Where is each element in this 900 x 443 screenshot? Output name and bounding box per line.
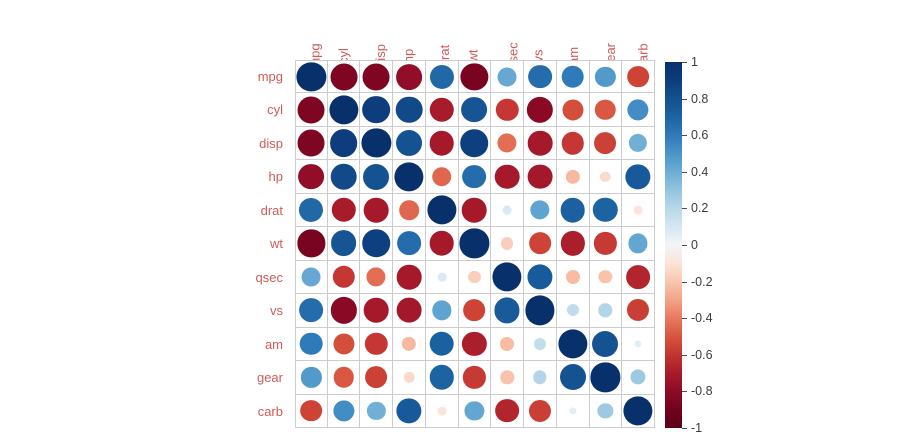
matrix-cell-gear-am[interactable]: [557, 361, 590, 394]
matrix-cell-carb-disp[interactable]: [360, 395, 393, 428]
correlation-dot: [298, 96, 325, 123]
correlation-dot: [631, 370, 646, 385]
matrix-cell-disp-gear[interactable]: [590, 127, 623, 160]
correlation-dot: [528, 164, 553, 189]
correlation-dot: [301, 367, 321, 387]
correlation-dot: [593, 198, 617, 222]
matrix-cell-hp-cyl[interactable]: [328, 160, 361, 193]
matrix-cell-hp-vs[interactable]: [524, 160, 557, 193]
matrix-cell-gear-qsec[interactable]: [491, 361, 524, 394]
matrix-cell-cyl-hp[interactable]: [393, 93, 426, 126]
correlation-dot: [558, 329, 587, 358]
correlation-dot: [396, 130, 422, 156]
matrix-cell-carb-mpg[interactable]: [295, 395, 328, 428]
correlation-dot: [625, 164, 650, 189]
matrix-cell-hp-hp[interactable]: [393, 160, 426, 193]
correlation-dot: [495, 399, 519, 423]
correlation-dot: [363, 230, 391, 258]
correlation-dot: [530, 200, 549, 219]
correlation-dot: [365, 366, 387, 388]
correlation-dot: [629, 234, 648, 253]
correlation-dot: [527, 97, 553, 123]
colorbar-tick: [682, 135, 687, 136]
correlation-dot: [600, 171, 611, 182]
correlation-dot: [527, 264, 552, 289]
matrix-cell-disp-carb[interactable]: [622, 127, 655, 160]
correlation-dot: [592, 331, 618, 357]
matrix-cell-gear-mpg[interactable]: [295, 361, 328, 394]
correlation-dot: [569, 407, 576, 414]
matrix-cell-am-vs[interactable]: [524, 328, 557, 361]
matrix-cell-am-disp[interactable]: [360, 328, 393, 361]
correlation-dot: [432, 167, 452, 187]
correlation-dot: [562, 99, 583, 120]
correlation-dot: [594, 232, 616, 254]
correlation-dot: [332, 266, 354, 288]
colorbar-tick-label: -0.2: [691, 275, 713, 289]
correlation-dot: [528, 65, 552, 89]
correlation-dot: [594, 132, 616, 154]
correlation-dot: [598, 403, 613, 418]
correlation-dot: [298, 230, 325, 257]
correlation-dot: [329, 95, 358, 124]
correlation-dot: [495, 298, 520, 323]
matrix-cell-wt-drat[interactable]: [426, 227, 459, 260]
matrix-cell-drat-carb[interactable]: [622, 194, 655, 227]
matrix-cell-mpg-gear[interactable]: [590, 60, 623, 93]
row-axis-labels: mpgcyldisphpdratwtqsecvsamgearcarb: [215, 60, 289, 428]
row-label-mpg: mpg: [258, 60, 283, 93]
colorbar-tick-label: -0.8: [691, 384, 713, 398]
correlation-dot: [566, 169, 580, 183]
matrix-cell-drat-wt[interactable]: [459, 194, 492, 227]
row-label-vs: vs: [270, 294, 283, 327]
matrix-cell-disp-wt[interactable]: [459, 127, 492, 160]
correlation-dot: [397, 232, 421, 256]
matrix-cell-cyl-mpg[interactable]: [295, 93, 328, 126]
matrix-cell-disp-am[interactable]: [557, 127, 590, 160]
correlation-dot: [429, 231, 454, 256]
correlation-dot: [427, 195, 456, 224]
correlation-dot: [397, 265, 422, 290]
matrix-cell-vs-am[interactable]: [557, 294, 590, 327]
matrix-cell-mpg-am[interactable]: [557, 60, 590, 93]
matrix-cell-am-cyl[interactable]: [328, 328, 361, 361]
colorbar-tick-label: 0.8: [691, 92, 708, 106]
matrix-cell-gear-hp[interactable]: [393, 361, 426, 394]
colorbar-tick-label: 0.6: [691, 128, 708, 142]
matrix-cell-am-gear[interactable]: [590, 328, 623, 361]
matrix-cell-gear-drat[interactable]: [426, 361, 459, 394]
matrix-cell-cyl-qsec[interactable]: [491, 93, 524, 126]
matrix-cell-cyl-wt[interactable]: [459, 93, 492, 126]
row-label-am: am: [265, 328, 283, 361]
correlation-dot: [399, 200, 419, 220]
matrix-cell-mpg-disp[interactable]: [360, 60, 393, 93]
matrix-cell-hp-drat[interactable]: [426, 160, 459, 193]
correlation-dot: [402, 337, 416, 351]
matrix-cell-drat-disp[interactable]: [360, 194, 393, 227]
correlation-dot: [363, 164, 389, 190]
correlation-dot: [331, 231, 357, 257]
correlation-dot: [437, 406, 446, 415]
correlation-dot: [599, 304, 612, 317]
colorbar-tick: [682, 282, 687, 283]
colorbar-tick: [682, 355, 687, 356]
matrix-cell-am-drat[interactable]: [426, 328, 459, 361]
correlation-dot: [496, 98, 518, 120]
matrix-cell-hp-wt[interactable]: [459, 160, 492, 193]
correlation-dot: [493, 262, 522, 291]
matrix-cell-wt-mpg[interactable]: [295, 227, 328, 260]
matrix-cell-qsec-mpg[interactable]: [295, 261, 328, 294]
matrix-cell-vs-cyl[interactable]: [328, 294, 361, 327]
matrix-cell-gear-carb[interactable]: [622, 361, 655, 394]
correlation-dot: [437, 273, 446, 282]
matrix-cell-cyl-cyl[interactable]: [328, 93, 361, 126]
matrix-cell-vs-qsec[interactable]: [491, 294, 524, 327]
matrix-cell-wt-hp[interactable]: [393, 227, 426, 260]
correlation-dot: [330, 163, 357, 190]
matrix-cell-drat-cyl[interactable]: [328, 194, 361, 227]
matrix-cell-wt-carb[interactable]: [622, 227, 655, 260]
matrix-cell-qsec-hp[interactable]: [393, 261, 426, 294]
matrix-cell-hp-am[interactable]: [557, 160, 590, 193]
row-label-cyl: cyl: [267, 93, 283, 126]
matrix-cell-drat-hp[interactable]: [393, 194, 426, 227]
matrix-cell-gear-disp[interactable]: [360, 361, 393, 394]
matrix-cell-gear-cyl[interactable]: [328, 361, 361, 394]
colorbar-tick-label: 0.4: [691, 165, 708, 179]
correlation-dot: [429, 332, 454, 357]
correlation-dot: [300, 333, 323, 356]
matrix-cell-carb-cyl[interactable]: [328, 395, 361, 428]
correlation-dot: [498, 134, 517, 153]
matrix-cell-qsec-qsec[interactable]: [491, 261, 524, 294]
correlation-dot: [462, 198, 487, 223]
correlation-dot: [560, 364, 586, 390]
matrix-cell-qsec-disp[interactable]: [360, 261, 393, 294]
row-label-qsec: qsec: [256, 261, 283, 294]
matrix-cell-am-wt[interactable]: [459, 328, 492, 361]
correlation-dot: [627, 299, 649, 321]
matrix-cell-cyl-drat[interactable]: [426, 93, 459, 126]
matrix-cell-carb-carb[interactable]: [622, 395, 655, 428]
matrix-cell-qsec-vs[interactable]: [524, 261, 557, 294]
matrix-cell-carb-am[interactable]: [557, 395, 590, 428]
correlation-dot: [595, 67, 615, 87]
correlation-dot: [301, 400, 323, 422]
correlation-dot: [298, 164, 324, 190]
matrix-cell-vs-vs[interactable]: [524, 294, 557, 327]
matrix-cell-cyl-carb[interactable]: [622, 93, 655, 126]
correlation-dot: [465, 401, 484, 420]
correlation-dot: [430, 65, 454, 89]
matrix-cell-vs-disp[interactable]: [360, 294, 393, 327]
matrix-cell-drat-am[interactable]: [557, 194, 590, 227]
matrix-cell-mpg-hp[interactable]: [393, 60, 426, 93]
matrix-cell-hp-disp[interactable]: [360, 160, 393, 193]
matrix-cell-am-mpg[interactable]: [295, 328, 328, 361]
matrix-cell-carb-vs[interactable]: [524, 395, 557, 428]
correlation-dot: [367, 402, 385, 420]
matrix-cell-hp-gear[interactable]: [590, 160, 623, 193]
correlation-dot: [463, 165, 487, 189]
matrix-cell-drat-mpg[interactable]: [295, 194, 328, 227]
matrix-cell-hp-carb[interactable]: [622, 160, 655, 193]
correlation-dot: [330, 297, 356, 323]
colorbar-tick-label: 0.2: [691, 201, 708, 215]
correlation-dot: [626, 265, 650, 289]
matrix-cell-disp-hp[interactable]: [393, 127, 426, 160]
correlation-dot: [430, 365, 454, 389]
correlation-dot: [396, 398, 421, 423]
matrix-cell-disp-vs[interactable]: [524, 127, 557, 160]
correlation-dot: [429, 131, 454, 156]
correlation-dot: [635, 340, 642, 347]
correlation-dot: [468, 271, 480, 283]
correlation-dot: [503, 206, 512, 215]
colorbar-tick: [682, 208, 687, 209]
correlation-dot: [599, 270, 612, 283]
matrix-cell-qsec-am[interactable]: [557, 261, 590, 294]
correlation-dot: [462, 97, 488, 123]
correlation-dot: [463, 366, 485, 388]
correlation-dot: [364, 298, 389, 323]
colorbar-tick: [682, 318, 687, 319]
matrix-cell-vs-hp[interactable]: [393, 294, 426, 327]
matrix-cell-carb-gear[interactable]: [590, 395, 623, 428]
matrix-cell-mpg-carb[interactable]: [622, 60, 655, 93]
colorbar-legend: 10.80.60.40.20-0.2-0.4-0.6-0.8-1: [665, 60, 785, 430]
matrix-cell-gear-gear[interactable]: [590, 361, 623, 394]
correlation-dot: [561, 132, 583, 154]
correlation-dot: [561, 231, 585, 255]
correlation-dot: [330, 129, 358, 157]
matrix-cell-vs-carb[interactable]: [622, 294, 655, 327]
matrix-cell-cyl-gear[interactable]: [590, 93, 623, 126]
correlation-dot: [396, 96, 423, 123]
correlation-dot: [533, 371, 546, 384]
matrix-cell-vs-mpg[interactable]: [295, 294, 328, 327]
correlation-dot: [362, 129, 391, 158]
colorbar-gradient: [665, 62, 682, 428]
matrix-cell-mpg-drat[interactable]: [426, 60, 459, 93]
matrix-cell-carb-wt[interactable]: [459, 395, 492, 428]
matrix-cell-qsec-drat[interactable]: [426, 261, 459, 294]
correlation-dot: [627, 66, 649, 88]
matrix-cell-disp-mpg[interactable]: [295, 127, 328, 160]
matrix-cell-disp-cyl[interactable]: [328, 127, 361, 160]
correlation-dot: [529, 233, 551, 255]
colorbar-tick: [682, 99, 687, 100]
correlation-dot: [298, 130, 325, 157]
matrix-cell-carb-drat[interactable]: [426, 395, 459, 428]
matrix-cell-wt-wt[interactable]: [459, 227, 492, 260]
matrix-cell-carb-qsec[interactable]: [491, 395, 524, 428]
matrix-cell-qsec-gear[interactable]: [590, 261, 623, 294]
correlation-dot: [624, 396, 653, 425]
correlation-dot: [394, 162, 423, 191]
correlation-dot: [430, 97, 454, 121]
matrix-cell-gear-vs[interactable]: [524, 361, 557, 394]
matrix-cell-am-hp[interactable]: [393, 328, 426, 361]
colorbar-tick-label: -0.6: [691, 348, 713, 362]
matrix-cell-qsec-wt[interactable]: [459, 261, 492, 294]
row-label-carb: carb: [258, 395, 283, 428]
correlation-dot: [500, 337, 514, 351]
correlation-dot: [525, 296, 554, 325]
correlation-dot: [404, 372, 415, 383]
matrix-cell-am-carb[interactable]: [622, 328, 655, 361]
correlation-dot: [629, 134, 647, 152]
correlation-dot: [364, 198, 389, 223]
matrix-cell-am-qsec[interactable]: [491, 328, 524, 361]
correlation-dot: [461, 129, 489, 157]
matrix-cell-wt-gear[interactable]: [590, 227, 623, 260]
matrix-cell-cyl-am[interactable]: [557, 93, 590, 126]
correlation-dot: [566, 270, 580, 284]
matrix-cell-qsec-carb[interactable]: [622, 261, 655, 294]
correlation-dot: [561, 65, 584, 88]
matrix-cell-cyl-disp[interactable]: [360, 93, 393, 126]
matrix-cell-wt-vs[interactable]: [524, 227, 557, 260]
correlation-dot: [534, 338, 546, 350]
correlation-dot: [595, 99, 615, 119]
matrix-cell-mpg-cyl[interactable]: [328, 60, 361, 93]
colorbar-tick-label: -0.4: [691, 311, 713, 325]
column-axis-labels: mpgcyldisphpdratwtqsecvsamgearcarb: [295, 0, 655, 58]
matrix-cell-drat-gear[interactable]: [590, 194, 623, 227]
correlation-dot: [333, 400, 354, 421]
colorbar-tick-label: 1: [691, 55, 698, 69]
correlation-dot: [501, 371, 514, 384]
correlation-dot: [495, 164, 520, 189]
matrix-cell-drat-qsec[interactable]: [491, 194, 524, 227]
matrix-cell-wt-cyl[interactable]: [328, 227, 361, 260]
matrix-cell-hp-mpg[interactable]: [295, 160, 328, 193]
row-label-gear: gear: [257, 361, 283, 394]
matrix-cell-wt-qsec[interactable]: [491, 227, 524, 260]
correlation-dot: [432, 301, 451, 320]
correlation-dot: [464, 300, 486, 322]
matrix-cell-vs-gear[interactable]: [590, 294, 623, 327]
matrix-cell-disp-qsec[interactable]: [491, 127, 524, 160]
correlation-dot: [330, 63, 357, 90]
correlation-dot: [365, 333, 387, 355]
matrix-cell-mpg-qsec[interactable]: [491, 60, 524, 93]
colorbar-tick: [682, 391, 687, 392]
correlation-dot: [591, 363, 620, 392]
matrix-cell-mpg-mpg[interactable]: [295, 60, 328, 93]
matrix-cell-vs-drat[interactable]: [426, 294, 459, 327]
matrix-cell-wt-am[interactable]: [557, 227, 590, 260]
correlation-matrix-plot: mpgcyldisphpdratwtqsecvsamgearcarb mpgcy…: [0, 0, 900, 443]
matrix-cell-hp-qsec[interactable]: [491, 160, 524, 193]
correlation-dot: [529, 400, 551, 422]
row-label-drat: drat: [261, 194, 283, 227]
matrix-cell-cyl-vs[interactable]: [524, 93, 557, 126]
correlation-dot: [331, 198, 355, 222]
matrix-cell-gear-wt[interactable]: [459, 361, 492, 394]
correlation-dot: [363, 63, 390, 90]
correlation-dot: [297, 62, 326, 91]
colorbar-tick: [682, 245, 687, 246]
colorbar-tick-label: -1: [691, 421, 702, 435]
matrix-cell-drat-vs[interactable]: [524, 194, 557, 227]
matrix-cell-mpg-vs[interactable]: [524, 60, 557, 93]
correlation-dot: [299, 299, 323, 323]
correlation-dot: [396, 64, 422, 90]
matrix-cell-am-am[interactable]: [557, 328, 590, 361]
correlation-dot: [460, 229, 489, 258]
matrix-cell-disp-drat[interactable]: [426, 127, 459, 160]
correlation-dot: [567, 304, 579, 316]
matrix-cell-qsec-cyl[interactable]: [328, 261, 361, 294]
row-label-disp: disp: [259, 127, 283, 160]
matrix-cell-drat-drat[interactable]: [426, 194, 459, 227]
correlation-dot: [634, 206, 643, 215]
correlation-dot: [498, 67, 517, 86]
colorbar-tick: [682, 62, 687, 63]
correlation-dot: [528, 131, 553, 156]
correlation-dot: [627, 99, 648, 120]
matrix-cell-disp-disp[interactable]: [360, 127, 393, 160]
correlation-dot: [501, 237, 513, 249]
correlation-dot: [560, 198, 585, 223]
correlation-dot: [462, 332, 486, 356]
correlation-matrix-grid[interactable]: [295, 60, 655, 428]
correlation-dot: [397, 298, 422, 323]
matrix-cell-wt-disp[interactable]: [360, 227, 393, 260]
row-label-wt: wt: [270, 227, 283, 260]
correlation-dot: [333, 367, 353, 387]
matrix-cell-vs-wt[interactable]: [459, 294, 492, 327]
matrix-cell-mpg-wt[interactable]: [459, 60, 492, 93]
correlation-dot: [367, 267, 386, 286]
colorbar-tick: [682, 428, 687, 429]
correlation-dot: [461, 63, 488, 90]
correlation-dot: [299, 198, 323, 222]
correlation-dot: [333, 333, 354, 354]
colorbar-tick: [682, 172, 687, 173]
colorbar-tick-label: 0: [691, 238, 698, 252]
correlation-dot: [302, 267, 321, 286]
correlation-dot: [362, 96, 390, 124]
matrix-cell-carb-hp[interactable]: [393, 395, 426, 428]
row-label-hp: hp: [269, 160, 283, 193]
